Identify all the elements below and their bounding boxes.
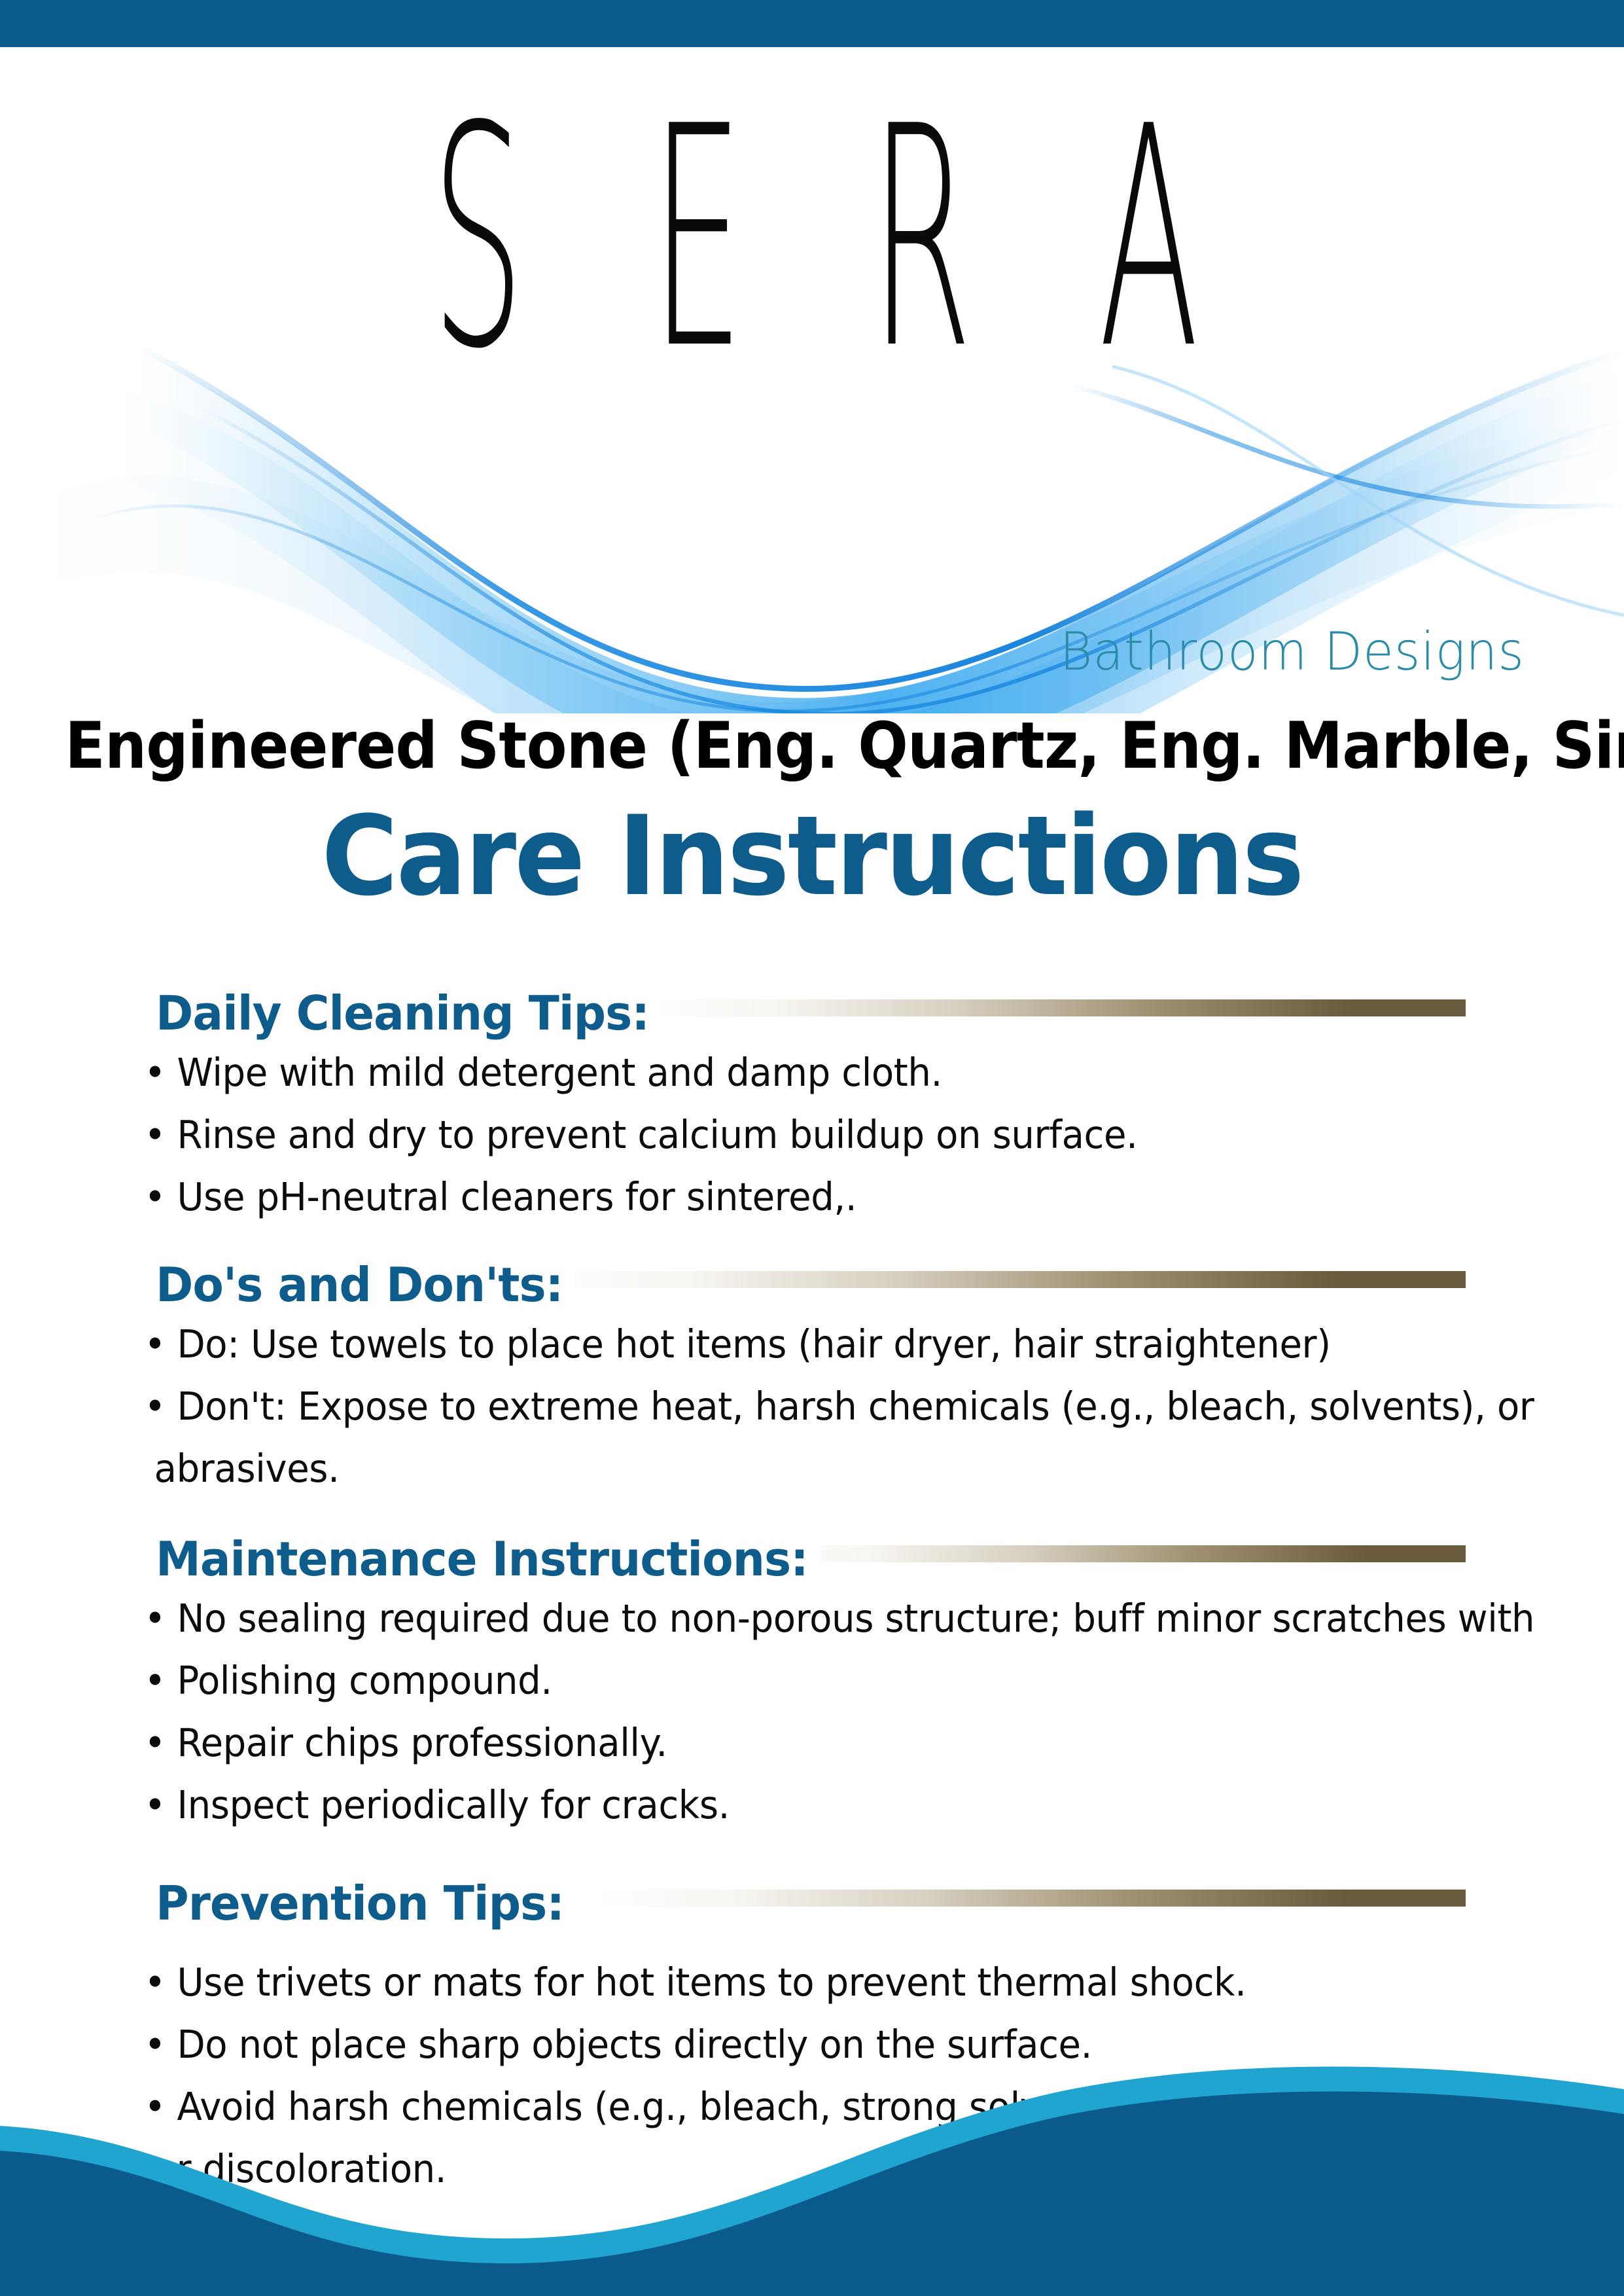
top-accent-bar [0,0,1624,47]
section-heading: Maintenance Instructions: [156,1531,819,1587]
content-sections: Daily Cleaning Tips: • Wipe with mild de… [0,985,1624,2200]
bullet-list: • Wipe with mild detergent and damp clot… [0,1041,1624,1228]
list-item: • Inspect periodically for cracks. [0,1774,1543,1836]
section-header: Do's and Don'ts: [0,1257,1624,1313]
section-divider-rule [595,1890,1466,1907]
bullet-list: • No sealing required due to non-porous … [0,1587,1624,1836]
section-maintenance-instructions: Maintenance Instructions: • No sealing r… [0,1531,1624,1836]
brand-tagline: Bathroom Designs [0,623,1525,680]
list-item: • Don't: Expose to extreme heat, harsh c… [0,1375,1543,1437]
list-item: • Do: Use towels to place hot items (hai… [0,1313,1543,1375]
section-header: Daily Cleaning Tips: [0,985,1624,1041]
section-header: Maintenance Instructions: [0,1531,1624,1587]
section-heading: Prevention Tips: [156,1875,575,1931]
list-item: • Use pH-neutral cleaners for sintered,. [0,1166,1543,1228]
page-title: Care Instructions [41,795,1583,917]
document-subtitle: Engineered Stone (Eng. Quartz, Eng. Marb… [65,710,1559,782]
section-divider-rule [644,999,1466,1016]
section-divider-rule [756,1545,1466,1562]
list-item: • Use trivets or mats for hot items to p… [0,1951,1543,2013]
section-dos-and-donts: Do's and Don'ts: • Do: Use towels to pla… [0,1257,1624,1499]
list-item-continuation: abrasives. [0,1437,1543,1499]
brand-logo: S E R A [0,98,1624,399]
section-header: Prevention Tips: [0,1875,1624,1931]
footer-wave-graphic [0,2060,1624,2296]
list-item: • Repair chips professionally. [0,1712,1543,1774]
logo-wordmark: S E R A [391,87,1239,391]
list-item: • No sealing required due to non-porous … [0,1587,1543,1649]
section-heading: Daily Cleaning Tips: [156,985,660,1041]
list-item: • Polishing compound. [0,1649,1543,1712]
section-daily-cleaning-tips: Daily Cleaning Tips: • Wipe with mild de… [0,985,1624,1228]
bullet-list: • Do: Use towels to place hot items (hai… [0,1313,1624,1499]
section-divider-rule [543,1271,1466,1288]
list-item: • Wipe with mild detergent and damp clot… [0,1041,1543,1103]
list-item: • Rinse and dry to prevent calcium build… [0,1103,1543,1166]
section-heading: Do's and Don'ts: [156,1257,574,1313]
